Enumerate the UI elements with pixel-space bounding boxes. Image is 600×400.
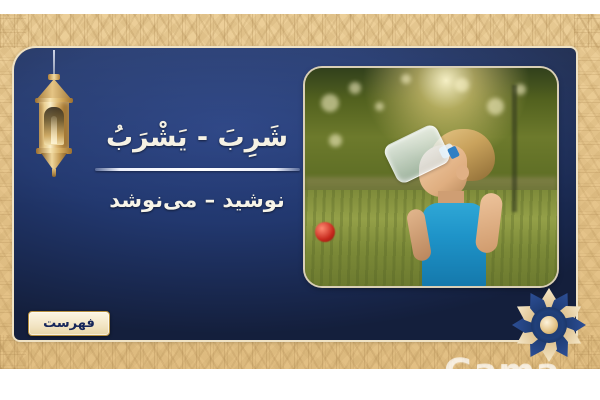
photo-bokeh xyxy=(375,102,384,111)
photo-bokeh xyxy=(321,94,339,112)
arabic-verb-text: شَرِبَ - يَشْرَبُ xyxy=(88,118,306,157)
lantern-glass xyxy=(44,107,64,145)
lantern-body-group xyxy=(34,74,74,178)
lantern-icon xyxy=(30,50,78,180)
photo-bokeh xyxy=(455,78,469,92)
rosette-core xyxy=(540,316,558,334)
photo-boy xyxy=(416,129,557,286)
photo-bokeh xyxy=(401,74,411,84)
boy-arm-right xyxy=(474,192,503,254)
frame-band-top xyxy=(0,14,600,48)
photo-bokeh xyxy=(349,82,361,94)
index-button-label: فهرست xyxy=(43,316,95,331)
frame-band-bottom xyxy=(0,335,600,369)
rosette-medallion-icon xyxy=(512,288,586,362)
top-white-margin xyxy=(0,0,600,14)
lantern-tip xyxy=(52,169,56,177)
lantern-cord xyxy=(53,50,55,76)
bottom-white-margin xyxy=(0,369,600,400)
index-button[interactable]: فهرست xyxy=(28,311,110,336)
vocabulary-block: شَرِبَ - يَشْرَبُ نوشید – می‌نوشد xyxy=(88,118,306,212)
text-divider xyxy=(95,168,300,171)
photo-bokeh xyxy=(487,98,504,115)
boy-ear xyxy=(456,165,469,180)
persian-translation-text: نوشید – می‌نوشد xyxy=(88,188,306,212)
illustration-photo xyxy=(305,68,557,286)
photo-bokeh xyxy=(329,134,342,147)
slide-canvas: شَرِبَ - يَشْرَبُ نوشید – می‌نوشد xyxy=(0,0,600,400)
